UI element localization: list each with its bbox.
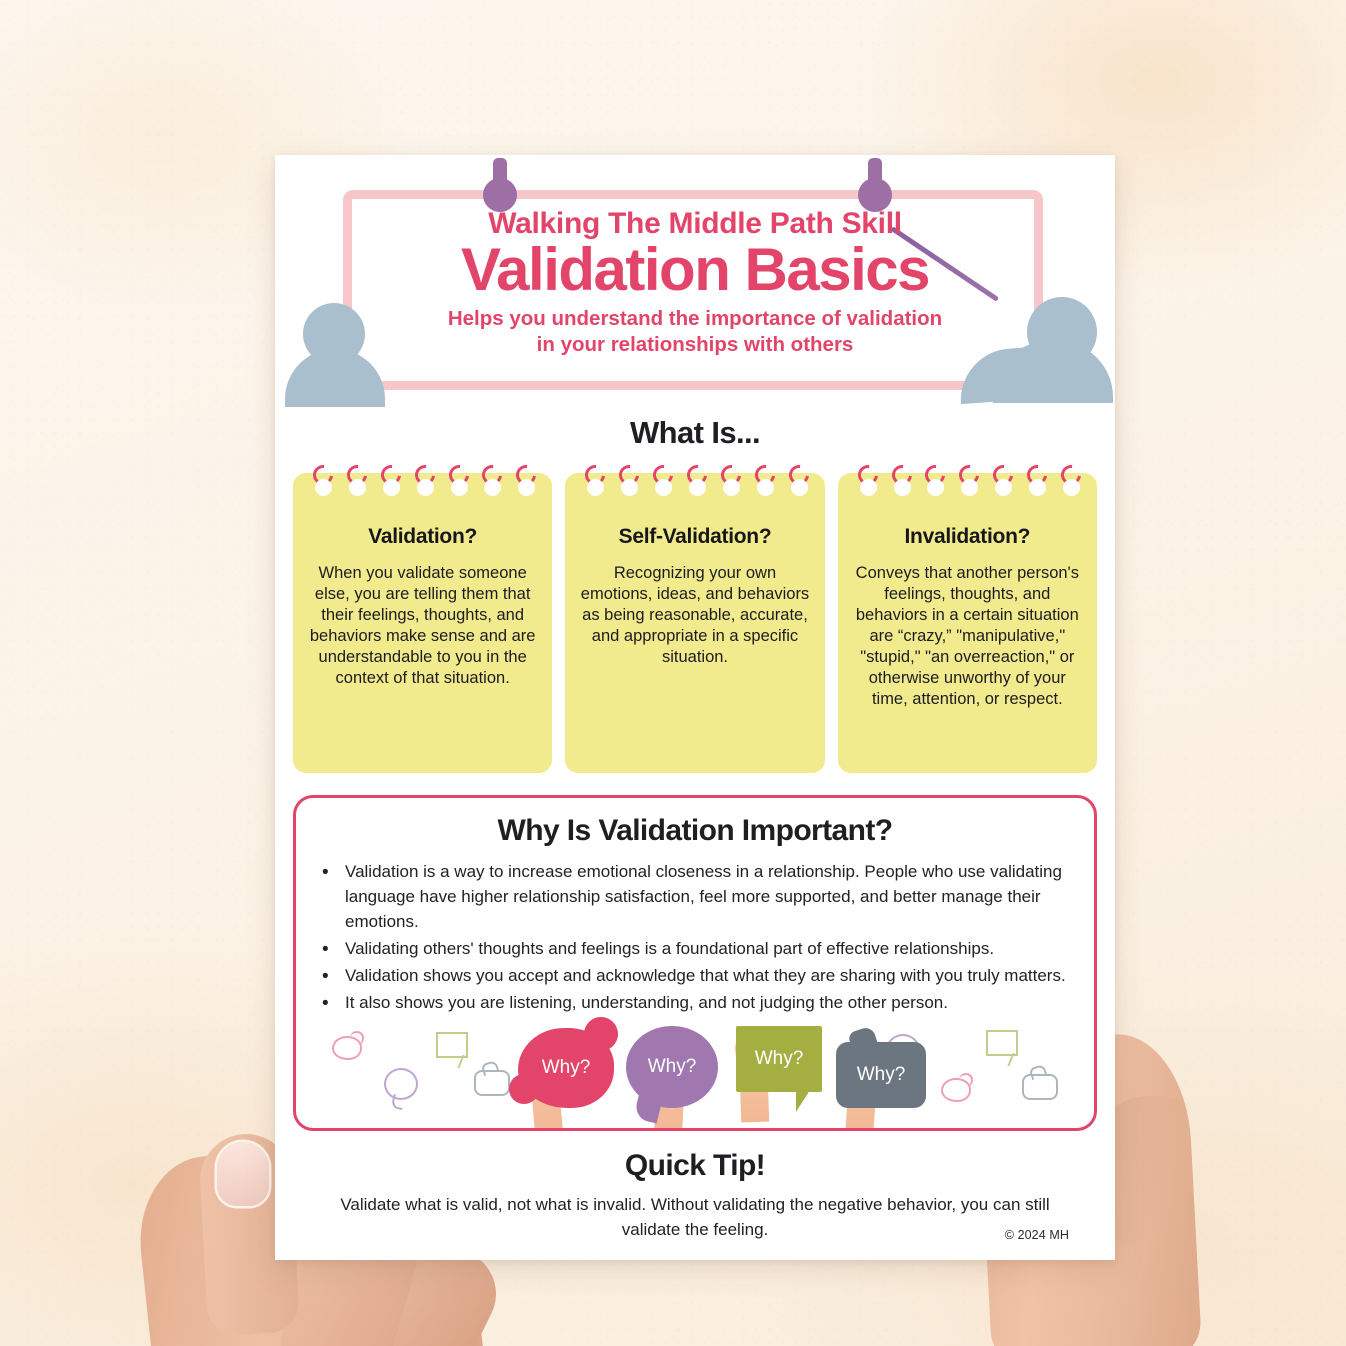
speech-bubble-illustration: Why? Why? Why? Why? (296, 1020, 1094, 1128)
why-important-bullet-list: Validation is a way to increase emotiona… (314, 860, 1076, 1016)
spiral-rings-icon (313, 465, 538, 495)
header-subtitle-line-1: Helps you understand the importance of v… (448, 307, 942, 330)
why-bubble-label: Why? (648, 1056, 697, 1078)
ghost-round-bubble-icon (1022, 1074, 1058, 1100)
why-bullet-item: Validating others' thoughts and feelings… (314, 937, 1076, 962)
why-bullet-item: It also shows you are listening, underst… (314, 991, 1076, 1016)
ghost-cloud-bubble-icon (332, 1036, 362, 1060)
left-hand-nail (217, 1142, 269, 1206)
why-bubble-olive: Why? (736, 1026, 822, 1092)
header-subtitle: Helps you understand the importance of v… (275, 306, 1115, 358)
why-bullet-item: Validation shows you accept and acknowle… (314, 964, 1076, 989)
ghost-round-bubble-icon (474, 1070, 510, 1096)
why-bubble-label: Why? (857, 1064, 906, 1086)
why-bullet-item: Validation is a way to increase emotiona… (314, 860, 1076, 935)
card-body: Recognizing your own emotions, ideas, an… (579, 563, 810, 668)
card-heading: Validation? (307, 525, 538, 549)
worksheet-sheet: Walking The Middle Path Skill Validation… (275, 155, 1115, 1260)
copyright-notice: © 2024 MH (1005, 1228, 1069, 1242)
card-heading: Self-Validation? (579, 525, 810, 549)
why-important-box: Why Is Validation Important? Validation … (293, 795, 1097, 1131)
quick-tip-title: Quick Tip! (333, 1149, 1057, 1183)
ghost-square-bubble-icon (986, 1030, 1018, 1056)
why-bubble-label: Why? (755, 1048, 804, 1070)
definition-card-self-validation: Self-Validation? Recognizing your own em… (565, 473, 824, 773)
ghost-cloud-bubble-icon (941, 1078, 971, 1102)
why-bubble-gray: Why? (836, 1042, 926, 1108)
why-important-title: Why Is Validation Important? (314, 814, 1076, 848)
spiral-rings-icon (585, 465, 810, 495)
quick-tip-body: Validate what is valid, not what is inva… (333, 1193, 1057, 1242)
card-heading: Invalidation? (852, 525, 1083, 549)
header-banner: Walking The Middle Path Skill Validation… (275, 155, 1115, 403)
ghost-oval-bubble-icon (384, 1068, 418, 1100)
page-title: Validation Basics (275, 239, 1115, 300)
definition-card-invalidation: Invalidation? Conveys that another perso… (838, 473, 1097, 773)
why-bubble-label: Why? (542, 1057, 591, 1079)
card-body: Conveys that another person's feelings, … (852, 563, 1083, 710)
why-bubble-pink: Why? (518, 1028, 614, 1108)
spiral-rings-icon (858, 465, 1083, 495)
quick-tip-section: Quick Tip! Validate what is valid, not w… (275, 1149, 1115, 1242)
definition-card-validation: Validation? When you validate someone el… (293, 473, 552, 773)
ghost-square-bubble-icon (436, 1032, 468, 1058)
definition-cards: Validation? When you validate someone el… (275, 473, 1115, 773)
what-is-section-title: What Is... (275, 415, 1115, 451)
why-bubble-purple: Why? (626, 1026, 718, 1108)
header-subtitle-line-2: in your relationships with others (537, 333, 854, 356)
card-body: When you validate someone else, you are … (307, 563, 538, 689)
header-text-block: Walking The Middle Path Skill Validation… (275, 207, 1115, 359)
